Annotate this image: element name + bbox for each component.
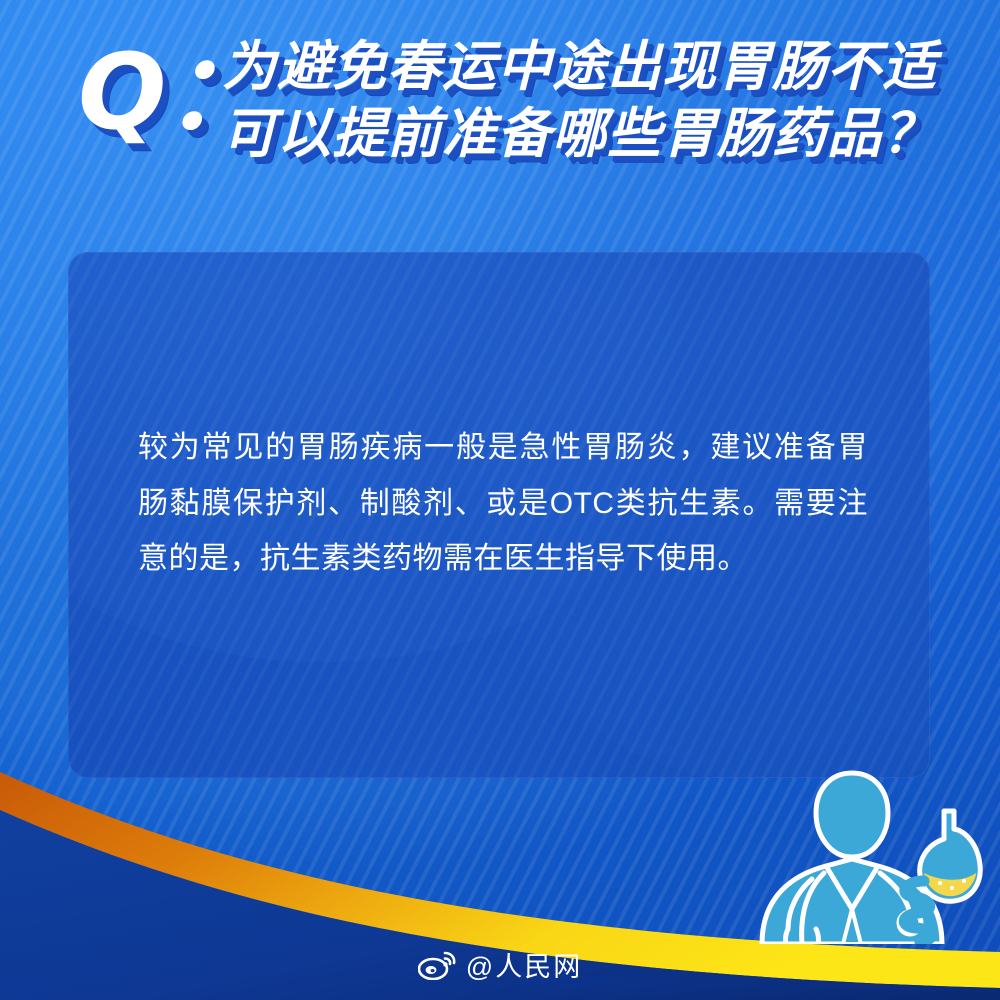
footer-watermark: @人民网 [0, 945, 1000, 984]
answer-body-wrap: 较为常见的胃肠疾病一般是急性胃肠炎，建议准备胃肠黏膜保护剂、制酸剂、或是OTC类… [138, 420, 868, 587]
answer-body-text: 较为常见的胃肠疾病一般是急性胃肠炎，建议准备胃肠黏膜保护剂、制酸剂、或是OTC类… [138, 420, 868, 587]
title-line-1: 为避免春运中途出现胃肠不适 [222, 34, 922, 101]
title-line-2: 可以提前准备哪些胃肠药品？ [222, 101, 922, 168]
title-block: Q： 为避免春运中途出现胃肠不适 可以提前准备哪些胃肠药品？ [0, 34, 1000, 214]
doctor-illustration [748, 769, 998, 944]
answer-card: 较为常见的胃肠疾病一般是急性胃肠炎，建议准备胃肠黏膜保护剂、制酸剂、或是OTC类… [68, 252, 930, 778]
doctor-organ-svg [748, 769, 998, 944]
weibo-icon [418, 950, 456, 980]
footer-handle: @人民网 [466, 945, 582, 984]
title-lines: 为避免春运中途出现胃肠不适 可以提前准备哪些胃肠药品？ [222, 34, 922, 168]
poster-root: Q： 为避免春运中途出现胃肠不适 可以提前准备哪些胃肠药品？ 较为常见的胃肠疾病… [0, 0, 1000, 1000]
